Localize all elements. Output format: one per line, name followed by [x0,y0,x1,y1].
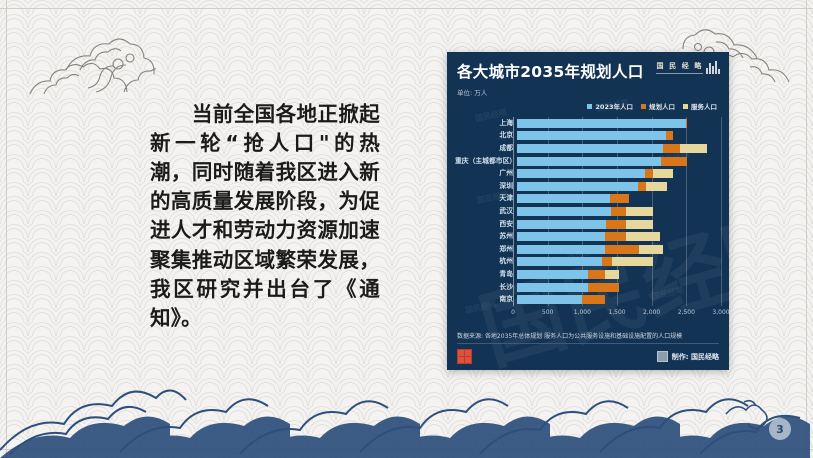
bar-track [517,220,721,229]
cloud-ornament-icon [26,18,156,102]
bar-segment-0[interactable] [517,295,582,304]
bar-segment-0[interactable] [517,144,663,153]
bar-segment-2[interactable] [626,207,653,216]
legend-item-2[interactable]: 服务人口 [683,101,717,111]
category-label: 青岛 [455,271,517,278]
chart-legend: 2023年人口规划人口服务人口 [447,97,729,111]
bar-track [517,270,721,279]
x-tick-label: 1,000 [574,309,591,316]
bar-track [517,182,721,191]
category-label: 北京 [455,132,517,139]
chart-bar-rows: 上海北京成都重庆（主城都市区）广州深圳天津武汉西安苏州郑州杭州青岛长沙南京 [455,117,721,306]
bar-segment-1[interactable] [686,119,687,128]
chart-row[interactable]: 南京 [455,293,721,306]
bar-segment-0[interactable] [517,245,605,254]
bar-track [517,245,721,254]
bar-segment-2[interactable] [653,169,673,178]
card-header: 各大城市2035年规划人口 单位: 万人 国 民 经 略 [447,52,729,97]
red-seal-stamp-icon [457,349,472,364]
chart-row[interactable]: 武汉 [455,205,721,218]
bar-segment-0[interactable] [517,270,588,279]
bar-segment-2[interactable] [605,270,619,279]
bar-track [517,131,721,140]
chart-row[interactable]: 西安 [455,218,721,231]
chart-x-axis: 05001,0001,5002,0002,5003,000 [455,308,721,320]
chart-row[interactable]: 上海 [455,117,721,130]
bar-segment-2[interactable] [639,245,663,254]
bar-track [517,257,721,266]
bar-segment-0[interactable] [517,257,602,266]
x-tick-label: 1,500 [608,309,625,316]
chart-row[interactable]: 杭州 [455,256,721,269]
bar-segment-0[interactable] [517,220,606,229]
bar-segment-1[interactable] [645,169,653,178]
bar-track [517,157,721,166]
bar-track [517,232,721,241]
bar-segment-0[interactable] [517,157,661,166]
bar-segment-1[interactable] [610,194,629,203]
category-label: 长沙 [455,284,517,291]
card-footer: 数据来源: 各地2035年总体规划 服务人口为公共服务设施和基础设施配置的人口规… [447,331,729,370]
x-tick-label: 0 [511,309,515,316]
bar-track [517,207,721,216]
bar-segment-1[interactable] [666,131,674,140]
legend-label: 规划人口 [649,101,675,111]
x-tick-label: 2,500 [678,309,695,316]
footer-row: 制作: 国民经略 [457,344,719,364]
bar-segment-1[interactable] [582,295,605,304]
bar-segment-2[interactable] [612,257,653,266]
bar-segment-2[interactable] [626,232,660,241]
category-label: 苏州 [455,233,517,240]
bar-segment-0[interactable] [517,169,645,178]
chart-row[interactable]: 苏州 [455,230,721,243]
chart-row[interactable]: 广州 [455,167,721,180]
category-label: 杭州 [455,258,517,265]
bar-segment-1[interactable] [605,245,639,254]
bar-track [517,194,721,203]
legend-swatch-icon [683,104,688,109]
legend-label: 2023年人口 [595,101,633,111]
bar-segment-1[interactable] [588,283,619,292]
qr-code-icon [657,351,668,362]
brand-logo: 国 民 经 略 [656,61,720,74]
category-label: 郑州 [455,246,517,253]
skyline-icon [706,61,720,74]
wave-decoration-band [0,380,813,458]
category-label: 天津 [455,195,517,202]
top-divider-rule [0,8,813,9]
category-label: 广州 [455,170,517,177]
legend-swatch-icon [641,104,646,109]
category-label: 深圳 [455,183,517,190]
bar-segment-0[interactable] [517,182,638,191]
chart-x-axis-ticks: 05001,0001,5002,0002,5003,000 [513,308,721,320]
legend-label: 服务人口 [691,101,717,111]
chart-row[interactable]: 重庆（主城都市区） [455,155,721,168]
bar-segment-2[interactable] [626,220,653,229]
credit-block: 制作: 国民经略 [657,351,719,362]
bar-segment-1[interactable] [611,207,626,216]
chart-plot-area: 上海北京成都重庆（主城都市区）广州深圳天津武汉西安苏州郑州杭州青岛长沙南京 [455,117,721,306]
bar-track [517,119,721,128]
bar-segment-1[interactable] [663,144,681,153]
chart-row[interactable]: 郑州 [455,243,721,256]
body-paragraph: 当前全国各地正掀起新一轮“抢人口"的热潮，同时随着我区进入新的高质量发展阶段，为… [150,100,380,333]
chart-row[interactable]: 青岛 [455,268,721,281]
chart-row[interactable]: 北京 [455,130,721,143]
bar-segment-0[interactable] [517,232,605,241]
credit-text: 制作: 国民经略 [672,352,719,362]
bar-segment-0[interactable] [517,131,666,140]
source-note: 数据来源: 各地2035年总体规划 服务人口为公共服务设施和基础设施配置的人口规… [457,331,719,344]
bar-segment-0[interactable] [517,283,588,292]
legend-item-1[interactable]: 规划人口 [641,101,675,111]
chart-row[interactable]: 深圳 [455,180,721,193]
bar-segment-1[interactable] [602,257,612,266]
chart-row[interactable]: 成都 [455,142,721,155]
legend-item-0[interactable]: 2023年人口 [587,101,633,111]
presentation-slide: 当前全国各地正掀起新一轮“抢人口"的热潮，同时随着我区进入新的高质量发展阶段，为… [0,0,813,458]
chart-unit-label: 单位: 万人 [457,87,719,97]
bar-segment-1[interactable] [638,182,646,191]
bar-segment-1[interactable] [588,270,606,279]
chart-row[interactable]: 天津 [455,193,721,206]
bar-track [517,169,721,178]
brand-name: 国 民 经 略 [656,61,703,74]
bar-segment-0[interactable] [517,194,610,203]
bar-segment-1[interactable] [605,232,626,241]
bar-track [517,295,721,304]
chart-row[interactable]: 长沙 [455,281,721,294]
gridline-3000 [721,117,722,306]
wave-decoration-icon [0,380,813,458]
category-label: 西安 [455,221,517,228]
x-tick-label: 2,000 [643,309,660,316]
bar-segment-2[interactable] [680,144,707,153]
category-label: 成都 [455,145,517,152]
bar-segment-1[interactable] [661,157,687,166]
chart-card: 国民经略 国民经略 国民经略 国民经略 国民经略 国民经略 国民经略 国民经略 … [447,52,729,370]
category-label: 武汉 [455,208,517,215]
x-tick-label: 3,000 [712,309,729,316]
bar-segment-0[interactable] [517,207,611,216]
bar-segment-1[interactable] [606,220,626,229]
x-tick-label: 500 [542,309,553,316]
bar-track [517,283,721,292]
category-label: 南京 [455,296,517,303]
category-label: 重庆（主城都市区） [455,158,517,165]
category-label: 上海 [455,120,517,127]
bar-segment-2[interactable] [646,182,666,191]
page-number-badge: 3 [769,418,791,440]
bar-track [517,144,721,153]
bar-segment-0[interactable] [517,119,686,128]
legend-swatch-icon [587,104,592,109]
